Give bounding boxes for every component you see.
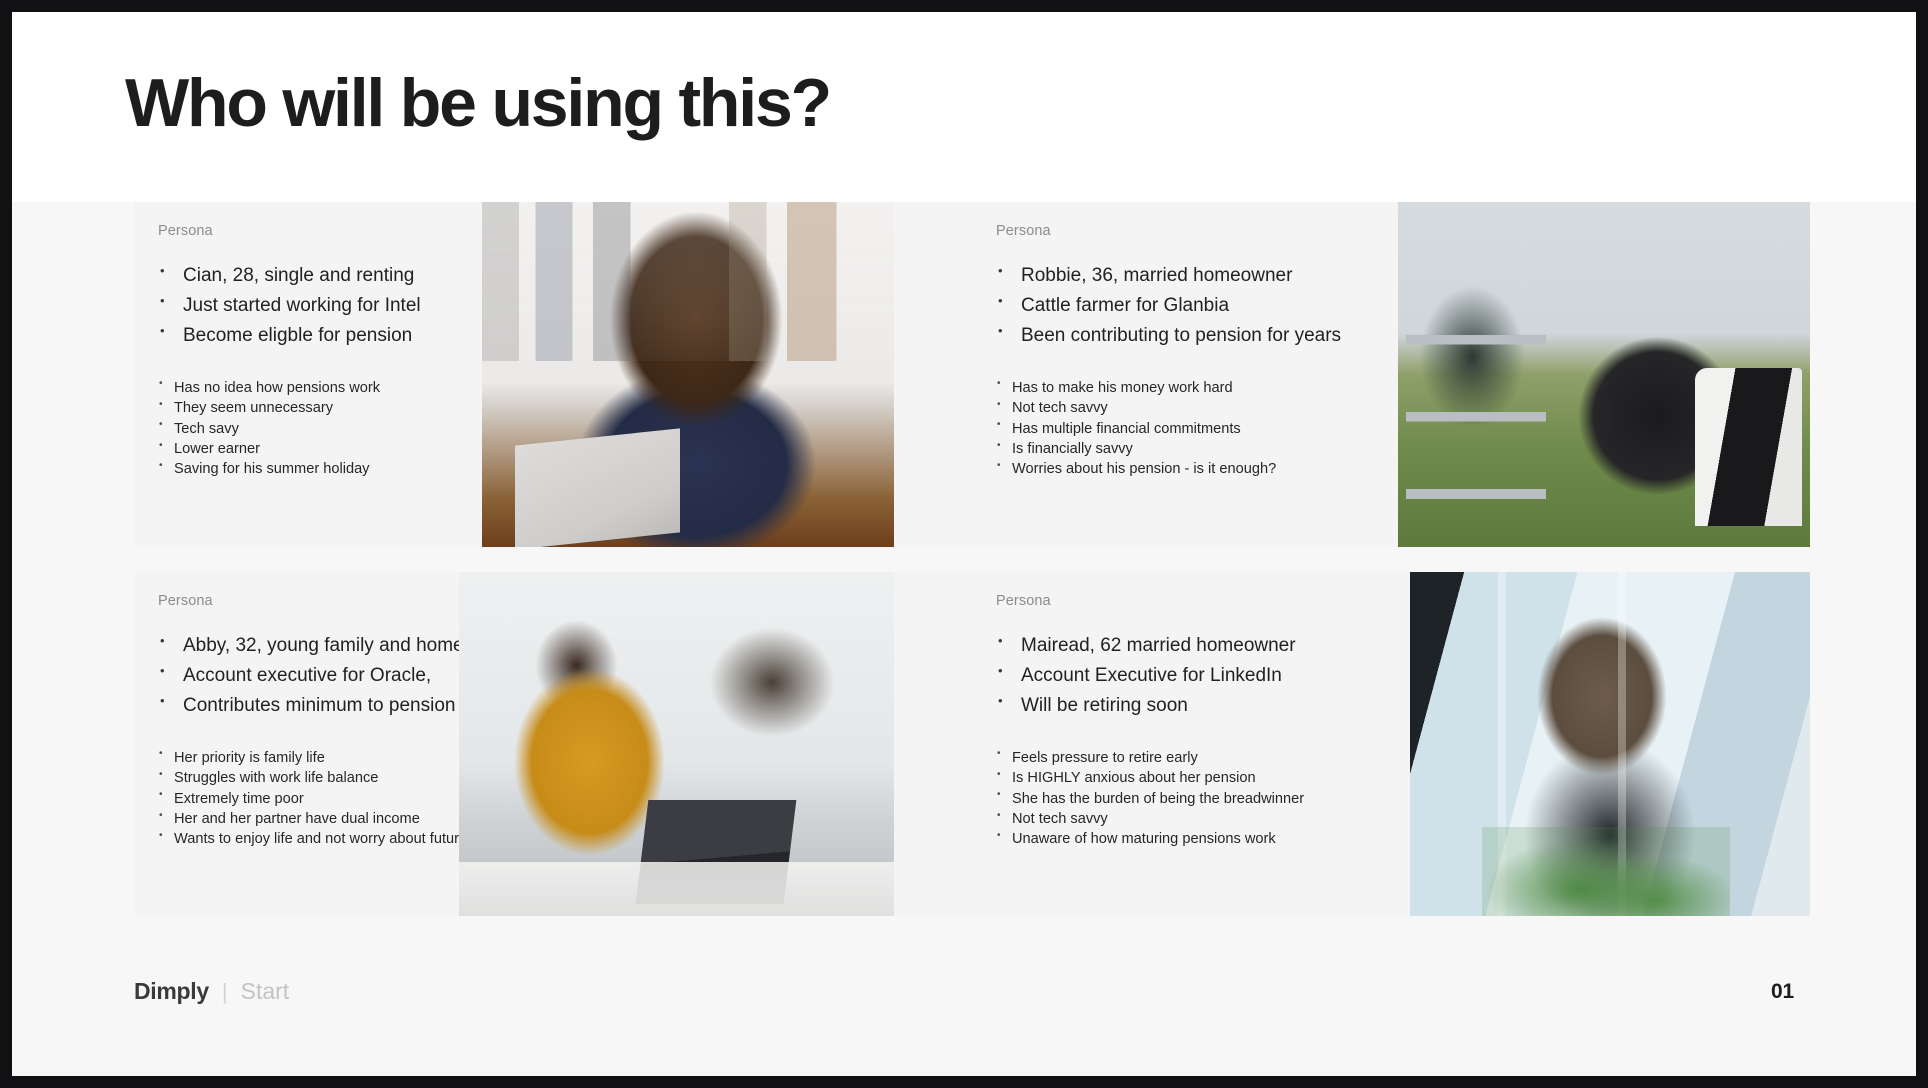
list-item: She has the burden of being the breadwin… bbox=[996, 791, 1382, 808]
persona-grid: Persona Cian, 28, single and renting Jus… bbox=[134, 202, 1806, 917]
persona-card-2[interactable]: Persona Robbie, 36, married homeowner Ca… bbox=[972, 202, 1810, 547]
brand-name: Dimply bbox=[134, 978, 209, 1005]
list-item: Has to make his money work hard bbox=[996, 380, 1382, 397]
list-item: Account Executive for LinkedIn bbox=[996, 665, 1382, 686]
breadcrumb-section: Start bbox=[241, 978, 290, 1005]
persona-label: Persona bbox=[996, 593, 1382, 609]
personas-section: Persona Cian, 28, single and renting Jus… bbox=[12, 202, 1916, 1076]
persona-card-1[interactable]: Persona Cian, 28, single and renting Jus… bbox=[134, 202, 972, 547]
list-item: Is financially savvy bbox=[996, 441, 1382, 458]
list-item: Will be retiring soon bbox=[996, 695, 1382, 716]
list-item: Unaware of how maturing pensions work bbox=[996, 831, 1382, 848]
persona-secondary-list: Feels pressure to retire early Is HIGHLY… bbox=[996, 750, 1382, 849]
slide-footer: Dimply | Start 01 bbox=[12, 916, 1916, 1076]
persona-card-4-text: Persona Mairead, 62 married homeowner Ac… bbox=[972, 572, 1392, 917]
persona-label: Persona bbox=[996, 223, 1382, 239]
breadcrumb-separator: | bbox=[222, 979, 228, 1005]
slide-header: Who will be using this? bbox=[12, 12, 1916, 202]
persona-photo-farm-cows bbox=[1398, 202, 1810, 547]
persona-photo-office-woman bbox=[1410, 572, 1810, 917]
slide-frame: Who will be using this? Persona Cian, 28… bbox=[12, 12, 1916, 1076]
list-item: Not tech savvy bbox=[996, 400, 1382, 417]
persona-secondary-list: Has to make his money work hard Not tech… bbox=[996, 380, 1382, 479]
persona-photo-family-home bbox=[459, 572, 894, 917]
list-item: Cattle farmer for Glanbia bbox=[996, 295, 1382, 316]
list-item: Feels pressure to retire early bbox=[996, 750, 1382, 767]
list-item: Robbie, 36, married homeowner bbox=[996, 265, 1382, 286]
page-number: 01 bbox=[1771, 980, 1794, 1004]
list-item: Been contributing to pension for years bbox=[996, 325, 1382, 346]
persona-card-2-text: Persona Robbie, 36, married homeowner Ca… bbox=[972, 202, 1392, 547]
persona-photo-office-man bbox=[482, 202, 894, 547]
page-title: Who will be using this? bbox=[125, 68, 830, 139]
list-item: Has multiple financial commitments bbox=[996, 421, 1382, 438]
list-item: Worries about his pension - is it enough… bbox=[996, 461, 1382, 478]
persona-primary-list: Mairead, 62 married homeowner Account Ex… bbox=[996, 635, 1382, 716]
persona-card-4[interactable]: Persona Mairead, 62 married homeowner Ac… bbox=[972, 572, 1810, 917]
list-item: Is HIGHLY anxious about her pension bbox=[996, 770, 1382, 787]
list-item: Mairead, 62 married homeowner bbox=[996, 635, 1382, 656]
persona-card-3[interactable]: Persona Abby, 32, young family and homeo… bbox=[134, 572, 972, 917]
persona-primary-list: Robbie, 36, married homeowner Cattle far… bbox=[996, 265, 1382, 346]
breadcrumb: Dimply | Start bbox=[134, 978, 289, 1005]
list-item: Not tech savvy bbox=[996, 811, 1382, 828]
